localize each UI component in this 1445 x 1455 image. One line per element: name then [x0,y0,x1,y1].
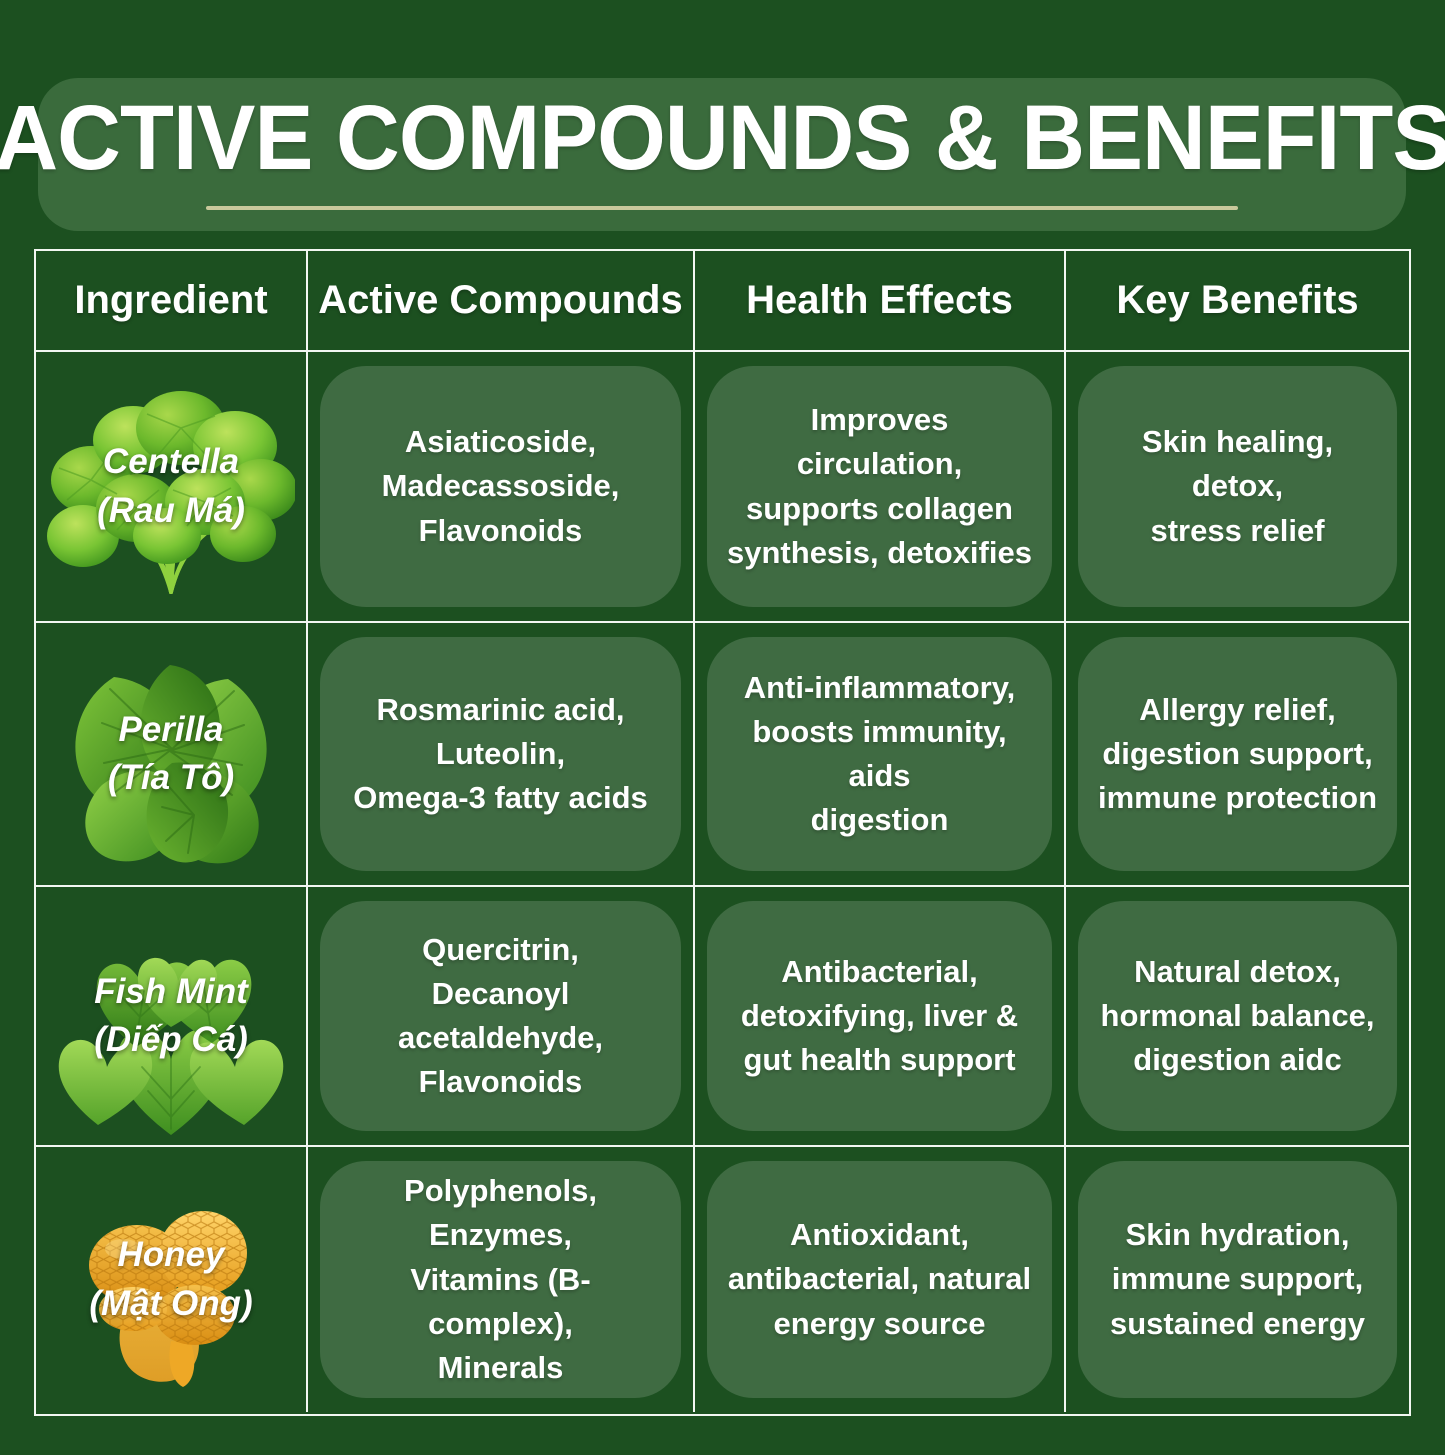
column-header-label: Active Compounds [318,278,682,323]
health-effects-text: Antioxidant, antibacterial, natural ener… [728,1213,1031,1345]
cell-health-effects: Improves circulation, supports collagen … [695,352,1066,621]
key-benefits-text: Allergy relief, digestion support, immun… [1098,688,1377,820]
content-pill: Allergy relief, digestion support, immun… [1078,637,1397,871]
content-pill: Rosmarinic acid, Luteolin, Omega-3 fatty… [320,637,681,871]
cell-health-effects: Antioxidant, antibacterial, natural ener… [695,1147,1066,1412]
ingredient-cell-fish-mint: Fish Mint (Diếp Cá) [36,887,308,1145]
table-header-row: Ingredient Active Compounds Health Effec… [36,251,1409,352]
ingredient-name: Honey (Mật Ong) [89,1231,252,1328]
cell-key-benefits: Skin hydration, immune support, sustaine… [1066,1147,1409,1412]
key-benefits-text: Skin hydration, immune support, sustaine… [1110,1213,1365,1345]
header-banner: ACTIVE COMPOUNDS & BENEFITS [38,78,1406,231]
active-compounds-text: Polyphenols, Enzymes, Vitamins (B-comple… [340,1169,661,1389]
content-pill: Antioxidant, antibacterial, natural ener… [707,1161,1052,1398]
title-underline-accent [206,206,1238,210]
column-header-label: Key Benefits [1116,278,1358,323]
cell-key-benefits: Skin healing, detox, stress relief [1066,352,1409,621]
table-row: Honey (Mật Ong) Polyphenols, Enzymes, Vi… [36,1147,1409,1412]
table-row: Perilla (Tía Tô) Rosmarinic acid, Luteol… [36,623,1409,887]
health-effects-text: Improves circulation, supports collagen … [727,398,1032,574]
cell-key-benefits: Allergy relief, digestion support, immun… [1066,623,1409,885]
cell-health-effects: Anti-inflammatory, boosts immunity, aids… [695,623,1066,885]
health-effects-text: Anti-inflammatory, boosts immunity, aids… [727,666,1032,842]
cell-active-compounds: Asiaticoside, Madecassoside, Flavonoids [308,352,695,621]
ingredient-name: Centella (Rau Má) [97,438,245,535]
content-pill: Skin hydration, immune support, sustaine… [1078,1161,1397,1398]
ingredient-name: Fish Mint (Diếp Cá) [94,968,248,1065]
active-compounds-text: Quercitrin, Decanoyl acetaldehyde, Flavo… [340,928,661,1104]
content-pill: Improves circulation, supports collagen … [707,366,1052,607]
content-pill: Skin healing, detox, stress relief [1078,366,1397,607]
column-header-key-benefits: Key Benefits [1066,251,1409,350]
cell-key-benefits: Natural detox, hormonal balance, digesti… [1066,887,1409,1145]
active-compounds-text: Asiaticoside, Madecassoside, Flavonoids [382,420,620,552]
key-benefits-text: Natural detox, hormonal balance, digesti… [1101,950,1375,1082]
page-title: ACTIVE COMPOUNDS & BENEFITS [0,92,1445,186]
ingredient-cell-honey: Honey (Mật Ong) [36,1147,308,1412]
content-pill: Quercitrin, Decanoyl acetaldehyde, Flavo… [320,901,681,1131]
column-header-label: Ingredient [74,278,267,323]
cell-health-effects: Antibacterial, detoxifying, liver & gut … [695,887,1066,1145]
table-row: Centella (Rau Má) Asiaticoside, Madecass… [36,352,1409,623]
ingredient-cell-centella: Centella (Rau Má) [36,352,308,621]
cell-active-compounds: Rosmarinic acid, Luteolin, Omega-3 fatty… [308,623,695,885]
column-header-active-compounds: Active Compounds [308,251,695,350]
table-row: Fish Mint (Diếp Cá) Quercitrin, Decanoyl… [36,887,1409,1147]
content-pill: Asiaticoside, Madecassoside, Flavonoids [320,366,681,607]
key-benefits-text: Skin healing, detox, stress relief [1098,420,1377,552]
infographic-page: ACTIVE COMPOUNDS & BENEFITS Ingredient A… [0,0,1445,1455]
health-effects-text: Antibacterial, detoxifying, liver & gut … [741,950,1018,1082]
content-pill: Antibacterial, detoxifying, liver & gut … [707,901,1052,1131]
cell-active-compounds: Polyphenols, Enzymes, Vitamins (B-comple… [308,1147,695,1412]
active-compounds-text: Rosmarinic acid, Luteolin, Omega-3 fatty… [340,688,661,820]
column-header-ingredient: Ingredient [36,251,308,350]
column-header-label: Health Effects [746,278,1013,323]
content-pill: Anti-inflammatory, boosts immunity, aids… [707,637,1052,871]
ingredient-name: Perilla (Tía Tô) [108,706,234,803]
ingredient-cell-perilla: Perilla (Tía Tô) [36,623,308,885]
compounds-benefits-table: Ingredient Active Compounds Health Effec… [34,249,1411,1416]
content-pill: Polyphenols, Enzymes, Vitamins (B-comple… [320,1161,681,1398]
cell-active-compounds: Quercitrin, Decanoyl acetaldehyde, Flavo… [308,887,695,1145]
column-header-health-effects: Health Effects [695,251,1066,350]
content-pill: Natural detox, hormonal balance, digesti… [1078,901,1397,1131]
